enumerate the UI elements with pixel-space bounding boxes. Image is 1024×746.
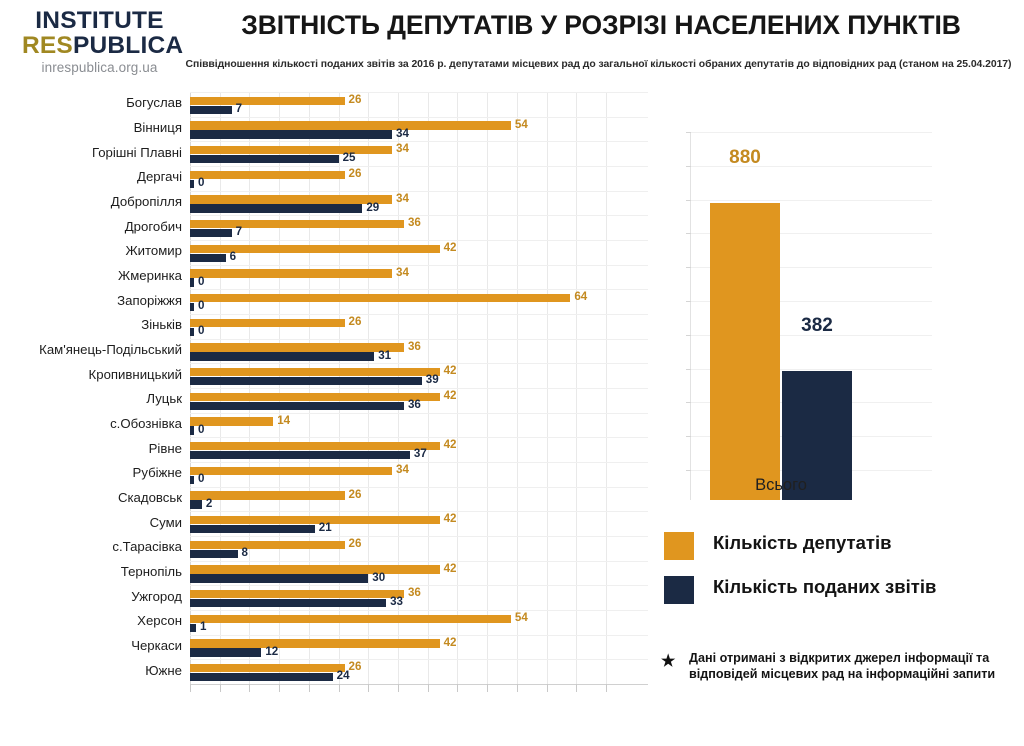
x-axis-tick <box>309 684 310 692</box>
legend-swatch-rep <box>664 576 694 604</box>
bar-value-deputies: 54 <box>515 611 528 624</box>
totals-y-tick <box>686 369 691 370</box>
x-axis-tick <box>547 684 548 692</box>
horizontal-gridline <box>190 166 648 167</box>
x-axis-tick <box>339 684 340 692</box>
bar-deputies <box>190 639 440 647</box>
bar-value-reports: 7 <box>236 102 242 115</box>
bar-reports <box>190 377 422 385</box>
bar-reports <box>190 574 368 582</box>
totals-y-tick <box>686 335 691 336</box>
bar-value-deputies: 34 <box>396 463 409 476</box>
totals-y-tick <box>686 233 691 234</box>
bar-value-deputies: 36 <box>408 586 421 599</box>
footnote-text: Дані отримані з відкритих джерел інформа… <box>689 650 1001 683</box>
bar-value-reports: 36 <box>408 398 421 411</box>
horizontal-gridline <box>190 487 648 488</box>
bar-deputies <box>190 541 345 549</box>
bar-value-reports: 29 <box>366 201 379 214</box>
bar-value-deputies: 64 <box>574 290 587 303</box>
bar-reports <box>190 328 194 336</box>
bar-reports <box>190 106 232 114</box>
category-label: Рубіжне <box>0 465 182 480</box>
horizontal-gridline <box>190 437 648 438</box>
x-axis-tick <box>279 684 280 692</box>
city-bar-chart: БогуславВінницяГорішні ПлавніДергачіДобр… <box>0 92 648 720</box>
bar-value-reports: 6 <box>230 250 236 263</box>
bar-deputies <box>190 269 392 277</box>
bar-value-deputies: 26 <box>349 315 362 328</box>
legend-item: Кількість поданих звітів <box>664 569 1014 613</box>
category-label: Зіньків <box>0 317 182 332</box>
bar-value-deputies: 14 <box>277 414 290 427</box>
bar-value-reports: 12 <box>265 645 278 658</box>
category-label: Черкаси <box>0 638 182 653</box>
category-label: с.Обознівка <box>0 416 182 431</box>
bar-deputies <box>190 294 570 302</box>
category-label: Рівне <box>0 441 182 456</box>
logo-line-respublica: RESPUBLICA <box>22 33 177 58</box>
totals-gridline <box>690 132 932 133</box>
bar-deputies <box>190 220 404 228</box>
horizontal-gridline <box>190 141 648 142</box>
category-label: Кропивницький <box>0 367 182 382</box>
bar-value-reports: 0 <box>198 423 204 436</box>
logo-line-institute: INSTITUTE <box>22 8 177 33</box>
horizontal-gridline <box>190 511 648 512</box>
totals-y-tick <box>686 132 691 133</box>
bar-deputies <box>190 245 440 253</box>
bar-deputies <box>190 393 440 401</box>
category-label: с.Тарасівка <box>0 539 182 554</box>
legend-label: Кількість депутатів <box>713 532 891 554</box>
x-axis-tick <box>606 684 607 692</box>
category-label: Вінниця <box>0 120 182 135</box>
bar-reports <box>190 204 362 212</box>
horizontal-gridline <box>190 363 648 364</box>
bar-value-reports: 39 <box>426 373 439 386</box>
category-label: Богуслав <box>0 95 182 110</box>
totals-y-tick <box>686 166 691 167</box>
x-axis-tick <box>428 684 429 692</box>
bar-deputies <box>190 467 392 475</box>
bar-value-deputies: 36 <box>408 216 421 229</box>
bar-value-reports: 0 <box>198 275 204 288</box>
x-axis-tick <box>487 684 488 692</box>
totals-gridline <box>690 200 932 201</box>
x-axis-tick <box>457 684 458 692</box>
category-label: Ужгород <box>0 589 182 604</box>
x-axis-tick <box>517 684 518 692</box>
bar-reports <box>190 303 194 311</box>
bar-value-deputies: 54 <box>515 118 528 131</box>
category-label: Житомир <box>0 243 182 258</box>
horizontal-gridline <box>190 659 648 660</box>
bar-reports <box>190 426 194 434</box>
bar-deputies <box>190 368 440 376</box>
star-icon: ★ <box>661 651 675 671</box>
category-label: Кам'янець-Подільський <box>0 342 182 357</box>
logo-publica-text: PUBLICA <box>73 32 183 59</box>
bar-value-deputies: 42 <box>444 364 457 377</box>
horizontal-gridline <box>190 388 648 389</box>
totals-value-deputies: 880 <box>710 147 780 169</box>
totals-y-tick <box>686 267 691 268</box>
x-axis-tick <box>190 684 191 692</box>
bar-value-deputies: 42 <box>444 389 457 402</box>
x-axis-tick <box>576 684 577 692</box>
bar-value-reports: 1 <box>200 620 206 633</box>
bar-value-deputies: 34 <box>396 192 409 205</box>
bar-reports <box>190 352 374 360</box>
bar-reports <box>190 278 194 286</box>
horizontal-gridline <box>190 536 648 537</box>
bar-deputies <box>190 565 440 573</box>
bar-value-reports: 24 <box>337 669 350 682</box>
bar-value-deputies: 42 <box>444 438 457 451</box>
bar-reports <box>190 155 339 163</box>
bar-value-reports: 0 <box>198 472 204 485</box>
bar-value-deputies: 34 <box>396 142 409 155</box>
legend-item: Кількість депутатів <box>664 525 1014 569</box>
bar-reports <box>190 402 404 410</box>
category-axis-labels: БогуславВінницяГорішні ПлавніДергачіДобр… <box>0 92 188 702</box>
bar-deputies <box>190 146 392 154</box>
bar-reports <box>190 525 315 533</box>
header: INSTITUTE RESPUBLICA inrespublica.org.ua… <box>0 0 1024 86</box>
bar-value-reports: 8 <box>242 546 248 559</box>
horizontal-gridline <box>190 92 648 93</box>
bar-value-reports: 33 <box>390 595 403 608</box>
horizontal-gridline <box>190 561 648 562</box>
bar-deputies <box>190 97 345 105</box>
horizontal-gridline <box>190 610 648 611</box>
bars-plot-area: 2675434342526034293674263406402603631423… <box>190 92 648 702</box>
bar-reports <box>190 550 238 558</box>
bar-value-reports: 0 <box>198 176 204 189</box>
x-axis-tick <box>249 684 250 692</box>
bar-value-deputies: 34 <box>396 266 409 279</box>
bar-deputies <box>190 343 404 351</box>
bar-value-reports: 30 <box>372 571 385 584</box>
bar-value-reports: 0 <box>198 324 204 337</box>
horizontal-gridline <box>190 635 648 636</box>
bar-reports <box>190 180 194 188</box>
totals-y-tick <box>686 436 691 437</box>
bar-value-deputies: 26 <box>349 488 362 501</box>
bar-value-deputies: 42 <box>444 562 457 575</box>
bar-value-reports: 37 <box>414 447 427 460</box>
x-axis-line <box>190 684 648 685</box>
totals-y-tick <box>686 470 691 471</box>
category-label: Южне <box>0 663 182 678</box>
bar-reports <box>190 624 196 632</box>
bar-reports <box>190 500 202 508</box>
bar-reports <box>190 451 410 459</box>
bar-deputies <box>190 195 392 203</box>
bar-value-deputies: 26 <box>349 167 362 180</box>
bar-value-reports: 7 <box>236 225 242 238</box>
logo: INSTITUTE RESPUBLICA inrespublica.org.ua <box>22 8 177 77</box>
bar-deputies <box>190 442 440 450</box>
bar-reports <box>190 254 226 262</box>
totals-y-tick <box>686 402 691 403</box>
horizontal-gridline <box>190 117 648 118</box>
infographic-page: INSTITUTE RESPUBLICA inrespublica.org.ua… <box>0 0 1024 746</box>
category-label: Добропілля <box>0 194 182 209</box>
bar-value-deputies: 42 <box>444 636 457 649</box>
bar-value-reports: 25 <box>343 151 356 164</box>
bar-value-reports: 0 <box>198 299 204 312</box>
bar-deputies <box>190 319 345 327</box>
totals-y-axis-line <box>690 132 691 500</box>
bar-reports <box>190 599 386 607</box>
horizontal-gridline <box>190 413 648 414</box>
bar-reports <box>190 130 392 138</box>
x-axis-tick <box>368 684 369 692</box>
horizontal-gridline <box>190 240 648 241</box>
category-label: Суми <box>0 515 182 530</box>
bar-value-reports: 31 <box>378 349 391 362</box>
bar-value-deputies: 42 <box>444 512 457 525</box>
legend-label: Кількість поданих звітів <box>713 576 936 598</box>
bar-value-deputies: 42 <box>444 241 457 254</box>
category-label: Херсон <box>0 613 182 628</box>
category-label: Дрогобич <box>0 219 182 234</box>
chart-legend: Кількість депутатівКількість поданих зві… <box>664 525 1014 613</box>
bar-reports <box>190 673 333 681</box>
bar-value-deputies: 26 <box>349 93 362 106</box>
x-axis-tick <box>398 684 399 692</box>
logo-url: inrespublica.org.ua <box>22 59 177 77</box>
category-label: Дергачі <box>0 169 182 184</box>
totals-bar-deputies <box>710 203 780 500</box>
totals-category-label: Всього <box>710 476 852 495</box>
bar-value-reports: 21 <box>319 521 332 534</box>
bar-value-reports: 2 <box>206 497 212 510</box>
bar-reports <box>190 229 232 237</box>
horizontal-gridline <box>190 191 648 192</box>
legend-swatch-dep <box>664 532 694 560</box>
category-label: Жмеринка <box>0 268 182 283</box>
category-label: Скадовськ <box>0 490 182 505</box>
category-label: Запоріжжя <box>0 293 182 308</box>
category-label: Тернопіль <box>0 564 182 579</box>
horizontal-gridline <box>190 314 648 315</box>
totals-value-reports: 382 <box>782 315 852 337</box>
bar-reports <box>190 476 194 484</box>
category-label: Луцьк <box>0 391 182 406</box>
bar-deputies <box>190 491 345 499</box>
bar-deputies <box>190 171 345 179</box>
logo-res-text: RES <box>22 32 73 59</box>
bar-value-deputies: 26 <box>349 660 362 673</box>
bar-deputies <box>190 664 345 672</box>
totals-y-tick <box>686 301 691 302</box>
bar-deputies <box>190 590 404 598</box>
bar-deputies <box>190 516 440 524</box>
bar-deputies <box>190 121 511 129</box>
page-title: ЗВІТНІСТЬ ДЕПУТАТІВ У РОЗРІЗІ НАСЕЛЕНИХ … <box>183 10 1019 41</box>
bar-value-deputies: 26 <box>349 537 362 550</box>
bar-value-reports: 34 <box>396 127 409 140</box>
horizontal-gridline <box>190 265 648 266</box>
bar-reports <box>190 648 261 656</box>
bar-deputies <box>190 615 511 623</box>
bar-value-deputies: 36 <box>408 340 421 353</box>
totals-y-tick <box>686 200 691 201</box>
category-label: Горішні Плавні <box>0 145 182 160</box>
horizontal-gridline <box>190 462 648 463</box>
x-axis-tick <box>220 684 221 692</box>
totals-bar-chart: 880382Всього <box>672 100 932 500</box>
page-subtitle: Співвідношення кількості поданих звітів … <box>176 59 1021 70</box>
